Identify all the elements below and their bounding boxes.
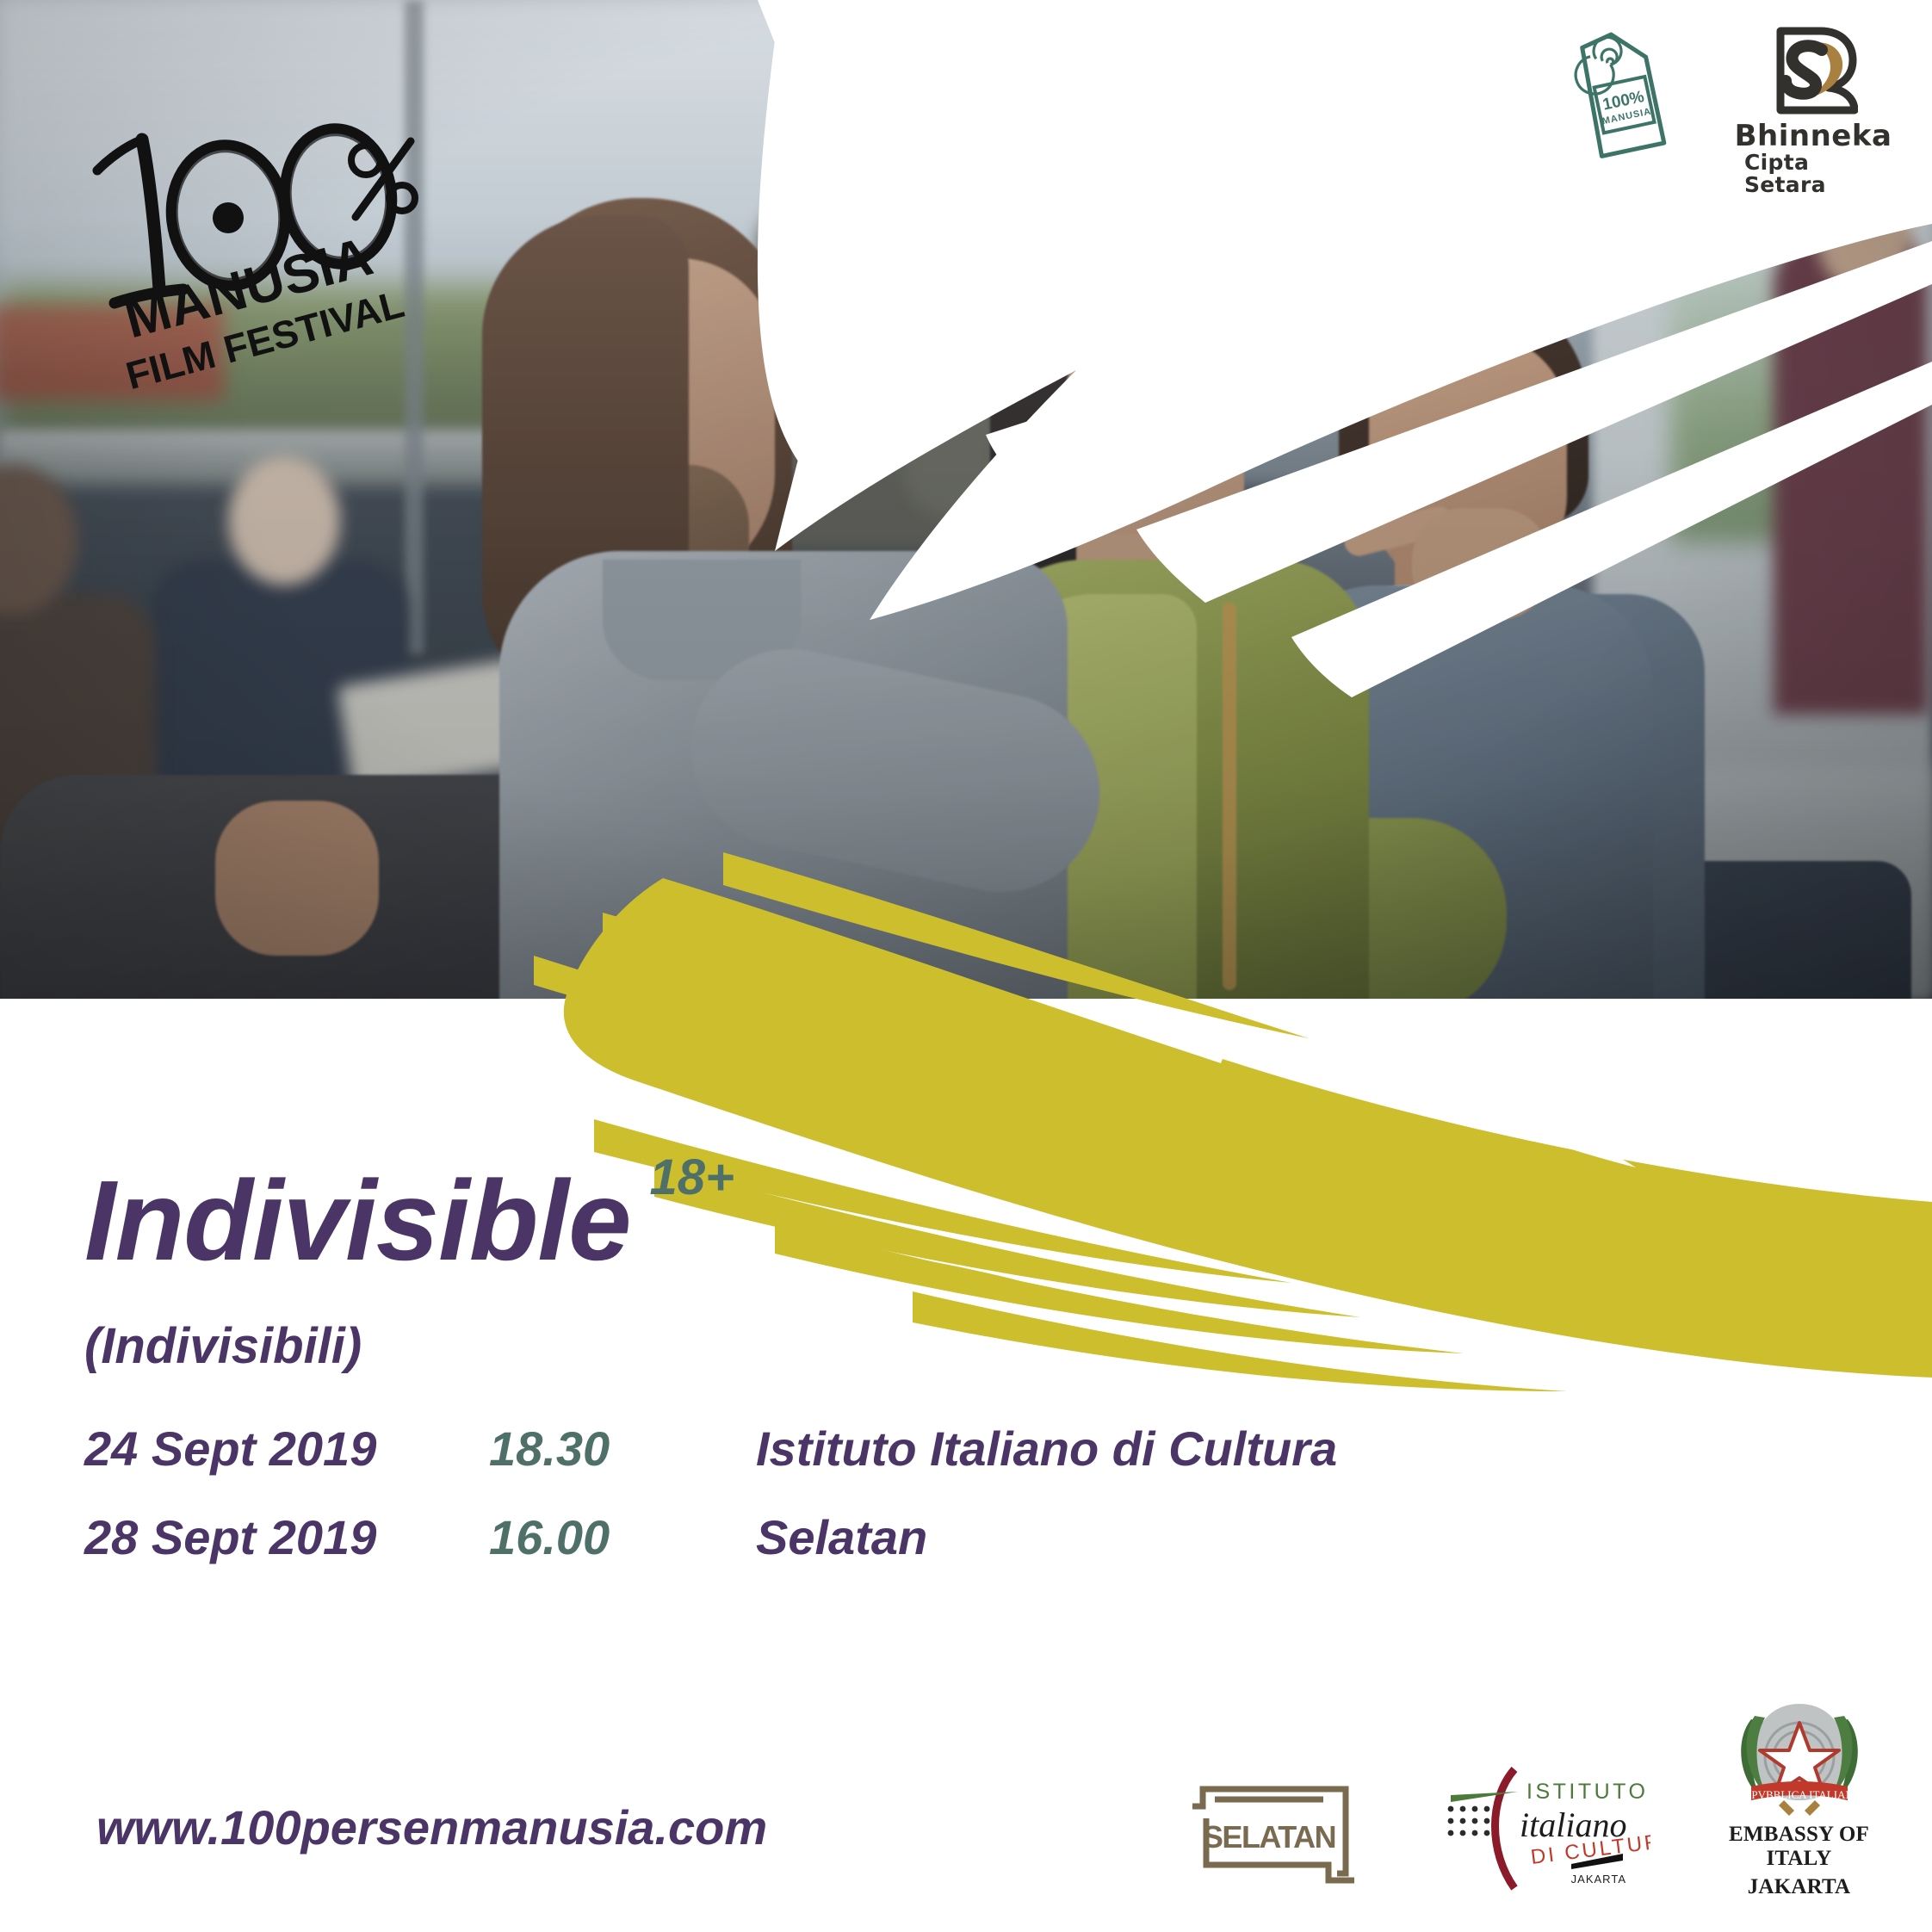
- emblem-banner-text: REPVBBLICA ITALIANA: [1737, 1788, 1861, 1801]
- screening-time: 18.30: [489, 1421, 756, 1477]
- screening-date: 28 Sept 2019: [84, 1509, 489, 1565]
- film-original-title: (Indivisibili): [84, 1317, 362, 1375]
- website-url[interactable]: www.100persenmanusia.com: [96, 1799, 767, 1855]
- screening-date: 24 Sept 2019: [84, 1421, 489, 1477]
- 100-manusia-tag-icon: 100% MANUSIA: [1567, 26, 1669, 164]
- bhinneka-monogram-icon: [1768, 26, 1858, 116]
- bhinneka-tagline-text: Cipta Setara: [1744, 152, 1882, 197]
- screening-venue: Istituto Italiano di Cultura: [756, 1421, 1337, 1477]
- selatan-logo: SELATAN: [1177, 1770, 1375, 1899]
- selatan-logo-text: SELATAN: [1203, 1819, 1335, 1855]
- film-title: Indivisible: [84, 1164, 631, 1278]
- bhinneka-logo: Bhinneka Cipta Setara: [1744, 26, 1882, 196]
- screening-schedule: 24 Sept 2019 18.30 Istituto Italiano di …: [84, 1421, 1337, 1598]
- age-rating-badge: 18+: [650, 1149, 734, 1206]
- iic-istituto-text: ISTITUTO: [1526, 1780, 1648, 1804]
- embassy-label-line2: JAKARTA: [1748, 1875, 1851, 1900]
- screening-time: 16.00: [489, 1509, 756, 1565]
- table-row: 24 Sept 2019 18.30 Istituto Italiano di …: [84, 1421, 1337, 1477]
- screening-venue: Selatan: [756, 1509, 927, 1565]
- film-festival-poster: MANUSIA FILM FESTIVAL 100% MANUSIA: [0, 0, 1932, 1932]
- embassy-of-italy-logo: REPVBBLICA ITALIANA EMBASSY OF ITALY JAK…: [1711, 1690, 1887, 1900]
- table-row: 28 Sept 2019 16.00 Selatan: [84, 1509, 1337, 1565]
- top-partner-logos: 100% MANUSIA Bhinneka Cipta Setara: [1567, 26, 1882, 196]
- footer-partner-logos: SELATAN ISTITUTO italiano DI CULTURA JAK…: [1177, 1690, 1887, 1900]
- film-title-row: Indivisible 18+: [84, 1164, 734, 1278]
- embassy-label-line1: EMBASSY OF ITALY: [1711, 1823, 1887, 1872]
- iic-jakarta-text: JAKARTA: [1571, 1873, 1626, 1886]
- festival-logo-100-manusia: MANUSIA FILM FESTIVAL: [82, 103, 443, 396]
- istituto-italiano-cultura-logo: ISTITUTO italiano DI CULTURA JAKARTA: [1435, 1757, 1650, 1899]
- italian-republic-emblem-icon: REPVBBLICA ITALIANA: [1731, 1690, 1868, 1819]
- bhinneka-name-text: Bhinneka: [1735, 121, 1892, 152]
